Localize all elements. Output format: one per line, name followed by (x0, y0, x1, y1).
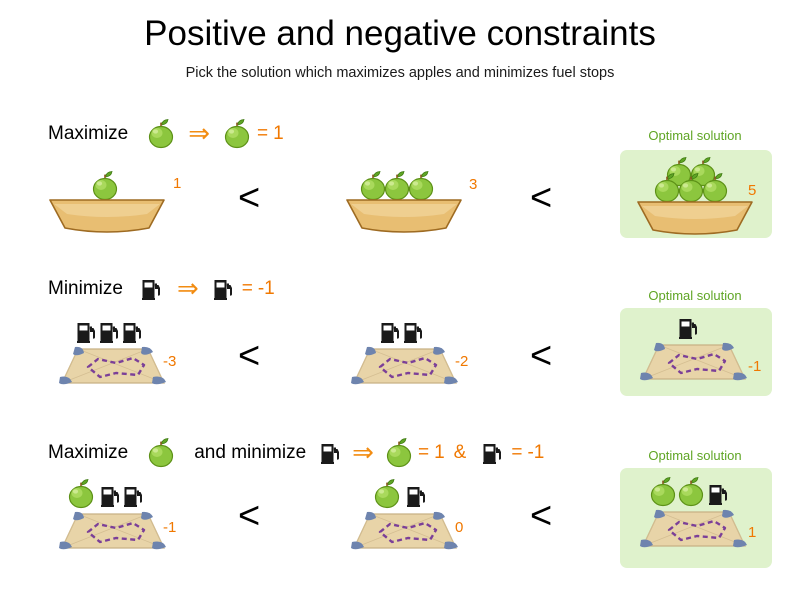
fuel-pump-icon (678, 316, 700, 340)
fuel-pump-icon (320, 441, 342, 465)
row1-equals: = (257, 123, 268, 145)
row2-value: -1 (258, 278, 275, 300)
fuel-pump-icon (708, 482, 730, 506)
row3-equals2: = (511, 442, 522, 464)
apple-icon (146, 437, 176, 468)
implies-arrow-icon: ⇒ (188, 120, 210, 146)
solution-score: 1 (748, 524, 756, 541)
fuel-pump-icon (213, 277, 235, 301)
optimal-solution-label: Optimal solution (615, 448, 775, 463)
fuel-pump-icon (123, 484, 145, 508)
apple-icon (648, 476, 678, 507)
map-route-icon (639, 508, 749, 554)
apple-icon (406, 170, 436, 201)
apple-icon (676, 476, 706, 507)
apple-icon (146, 118, 176, 149)
bowl-icon (345, 198, 463, 236)
optimal-solution-box[interactable]: 1 (620, 468, 772, 568)
bowl-icon (636, 200, 754, 238)
solution-score: 0 (455, 519, 463, 536)
solution-score: 5 (748, 182, 756, 199)
map-route-icon (58, 345, 168, 391)
fuel-pump-icon (403, 320, 425, 344)
fuel-pump-icon (76, 320, 98, 344)
map-route-icon (639, 341, 749, 387)
row3-equals: = (418, 442, 429, 464)
row3-header: Maximize and minimize (48, 437, 544, 468)
comparison-lt-icon: < (238, 335, 260, 378)
fuel-pump-icon (122, 320, 144, 344)
apple-icon (372, 478, 402, 509)
map-route-icon (58, 510, 168, 556)
comparison-lt-icon: < (238, 495, 260, 538)
solution-score: -2 (455, 353, 468, 370)
row3-value: 1 (434, 442, 445, 464)
comparison-lt-icon: < (238, 177, 260, 220)
comparison-lt-icon: < (530, 495, 552, 538)
row2-verb: Minimize (48, 278, 123, 300)
fuel-pump-icon (406, 484, 428, 508)
apple-icon (66, 478, 96, 509)
row3-ampersand: & (454, 442, 467, 464)
map-route-icon (350, 510, 460, 556)
apple-icon (700, 172, 730, 203)
bowl-icon (48, 198, 166, 236)
fuel-pump-icon (141, 277, 163, 301)
fuel-pump-icon (100, 484, 122, 508)
page-subtitle: Pick the solution which maximizes apples… (0, 65, 800, 81)
fuel-pump-icon (99, 320, 121, 344)
fuel-pump-icon (482, 441, 504, 465)
map-route-icon (350, 345, 460, 391)
row3-conjunction: and minimize (194, 442, 306, 464)
optimal-solution-label: Optimal solution (615, 128, 775, 143)
row1-value: 1 (273, 123, 284, 145)
comparison-lt-icon: < (530, 177, 552, 220)
comparison-lt-icon: < (530, 335, 552, 378)
solution-score: -3 (163, 353, 176, 370)
row3-verb: Maximize (48, 442, 128, 464)
solution-score: 3 (469, 176, 477, 193)
row2-header: Minimize ⇒ (48, 276, 275, 302)
page-title: Positive and negative constraints (0, 14, 800, 54)
row1-header: Maximize ⇒ (48, 118, 284, 149)
optimal-solution-box[interactable]: -1 (620, 308, 772, 396)
solution-score: -1 (748, 358, 761, 375)
row2-equals: = (242, 278, 253, 300)
slide-canvas: Positive and negative constraints Pick t… (0, 0, 800, 600)
apple-icon (384, 437, 414, 468)
row3-value2: -1 (527, 442, 544, 464)
row1-verb: Maximize (48, 123, 128, 145)
implies-arrow-icon: ⇒ (177, 275, 199, 301)
apple-icon (222, 118, 252, 149)
implies-arrow-icon: ⇒ (352, 439, 374, 465)
apple-icon (90, 170, 120, 201)
fuel-pump-icon (380, 320, 402, 344)
solution-score: -1 (163, 519, 176, 536)
optimal-solution-box[interactable]: 5 (620, 150, 772, 238)
solution-score: 1 (173, 175, 181, 192)
optimal-solution-label: Optimal solution (615, 288, 775, 303)
